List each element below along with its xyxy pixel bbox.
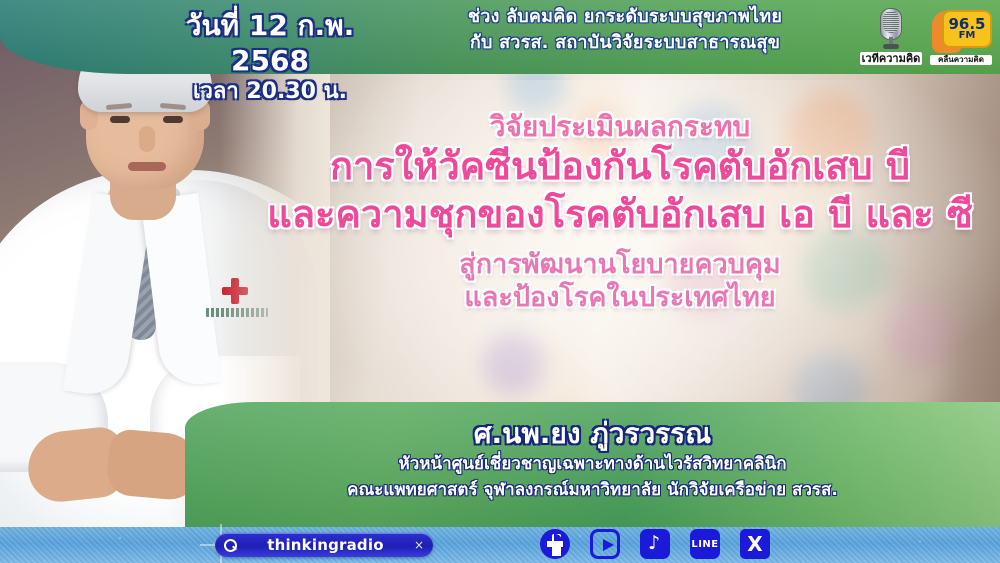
tiktok-icon[interactable]: ♪: [640, 529, 670, 559]
microphone-logo-label: เวทีความคิด: [860, 52, 922, 65]
eye-right: [163, 116, 183, 123]
search-icon: [224, 539, 237, 552]
mouth: [128, 162, 166, 171]
mic-base-icon: [883, 44, 899, 49]
facebook-icon[interactable]: [540, 529, 570, 559]
speaker-name: ศ.นพ.ยง ภู่วรวรรณ: [185, 412, 1000, 456]
nose: [139, 126, 155, 152]
main-title-line1: วิจัยประเมินผลกระทบ: [250, 110, 990, 143]
date-time-badge: วันที่ 12 ก.พ. 2568 เวลา 20.30 น.: [150, 8, 390, 106]
main-title-line5: และป้องโรคในประเทศไทย: [250, 282, 990, 315]
social-links: ♪ LINE X: [540, 529, 770, 559]
fm-radio-logo-icon: 96.5 FM คลื่นความคิด: [930, 4, 992, 66]
speaker-affiliation-line1: หัวหน้าศูนย์เชี่ยวชาญเฉพาะทางด้านไวรัสวิ…: [185, 452, 1000, 478]
microphone-logo-icon: เวทีความคิด: [860, 4, 922, 66]
search-query-text: thinkingradio: [237, 536, 414, 554]
broadcast-time: เวลา 20.30 น.: [150, 78, 390, 106]
main-title-line3: และความชุกของโรคตับอักเสบ เอ บี และ ซี: [250, 191, 990, 239]
poster-canvas: ช่วง ลับคมคิด ยกระดับระบบสุขภาพไทย กับ ส…: [0, 0, 1000, 563]
fm-speech-bubble-icon: 96.5 FM: [942, 10, 992, 48]
mic-grill-icon: [883, 11, 899, 33]
tiktok-note-glyph: ♪: [648, 534, 660, 553]
main-title-line4: สู่การพัฒนานโยบายควบคุม: [250, 249, 990, 282]
speaker-affiliation-line2: คณะแพทยศาสตร์ จุฬาลงกรณ์มหาวิทยาลัย นักว…: [185, 478, 1000, 504]
x-icon[interactable]: X: [740, 529, 770, 559]
bottom-bar: [0, 527, 1000, 563]
fm-logo-caption: คลื่นความคิด: [930, 55, 992, 65]
fm-frequency: 96.5: [948, 18, 985, 31]
speaker-panel: ศ.นพ.ยง ภู่วรวรรณ หัวหน้าศูนย์เชี่ยวชาญเ…: [185, 402, 1000, 527]
youtube-icon[interactable]: [590, 529, 620, 559]
program-title-line2: กับ สวรส. สถาบันวิจัยระบบสาธารณสุข: [395, 30, 855, 56]
x-label: X: [747, 534, 762, 554]
broadcast-date: วันที่ 12 ก.พ. 2568: [150, 8, 390, 78]
clear-search-icon[interactable]: ×: [414, 538, 424, 552]
main-title-line2: การให้วัคซีนป้องกันโรคตับอักเสบ บี: [250, 143, 990, 191]
bottom-bar-texture: [0, 527, 1000, 563]
line-icon[interactable]: LINE: [690, 529, 720, 559]
search-input[interactable]: thinkingradio ×: [215, 533, 433, 557]
title-spacer: [250, 239, 990, 249]
main-title-block: วิจัยประเมินผลกระทบ การให้วัคซีนป้องกันโ…: [250, 110, 990, 315]
speaker-affiliation: หัวหน้าศูนย์เชี่ยวชาญเฉพาะทางด้านไวรัสวิ…: [185, 452, 1000, 503]
program-title: ช่วง ลับคมคิด ยกระดับระบบสุขภาพไทย กับ ส…: [395, 4, 855, 56]
line-label: LINE: [691, 539, 718, 550]
eye-left: [110, 116, 130, 123]
station-logos: เวทีความคิด 96.5 FM คลื่นความคิด: [860, 4, 992, 66]
program-title-line1: ช่วง ลับคมคิด ยกระดับระบบสุขภาพไทย: [395, 4, 855, 30]
fm-unit: FM: [959, 31, 976, 41]
